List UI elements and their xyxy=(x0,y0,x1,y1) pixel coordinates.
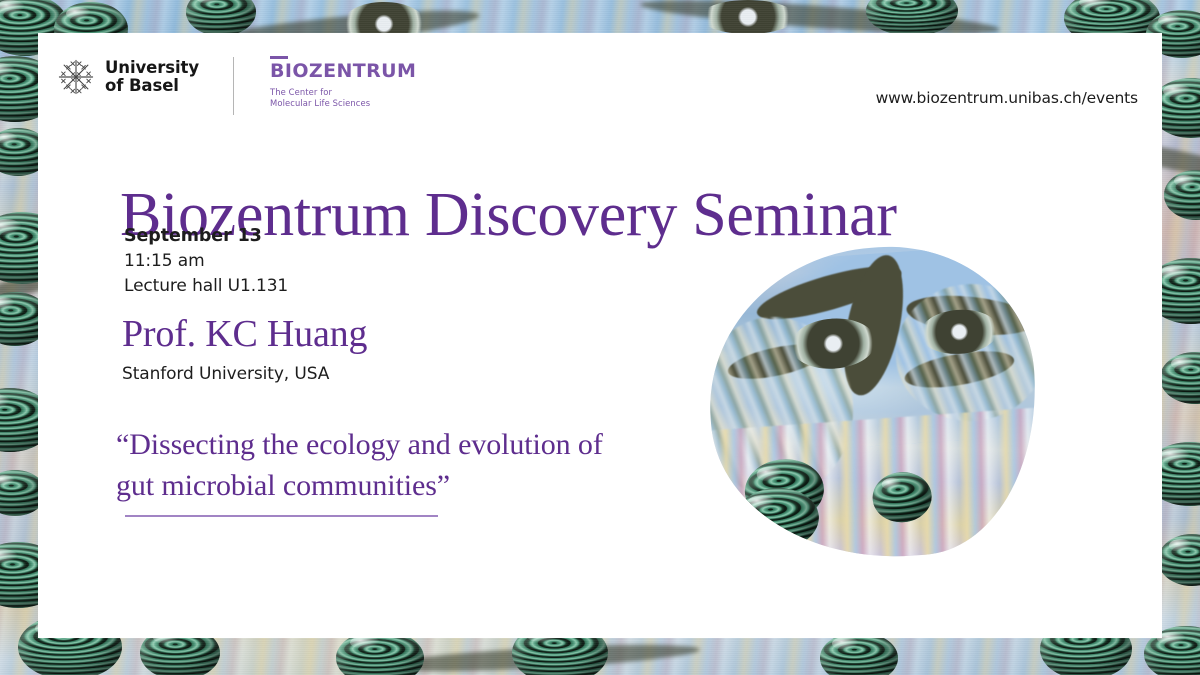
speaker-affiliation: Stanford University, USA xyxy=(122,364,367,384)
university-of-basel-wordmark: University of Basel xyxy=(105,59,199,96)
background-orb xyxy=(820,632,898,675)
decorative-rule xyxy=(125,515,438,517)
biozentrum-accent-bar xyxy=(270,56,288,59)
biozentrum-logo: BIOZENTRUM The Center for Molecular Life… xyxy=(270,55,416,110)
talk-title: “Dissecting the ecology and evolution of… xyxy=(116,425,636,506)
seminar-poster: University of Basel BIOZENTRUM The Cente… xyxy=(0,0,1200,675)
abstract-blob-image xyxy=(700,237,1047,569)
logo-divider xyxy=(233,57,234,115)
content-card: University of Basel BIOZENTRUM The Cente… xyxy=(38,33,1162,638)
basel-snowflake-icon xyxy=(58,59,94,95)
background-eye-swirl xyxy=(700,0,796,34)
poster-header: University of Basel BIOZENTRUM The Cente… xyxy=(58,55,1138,121)
speaker-name: Prof. KC Huang xyxy=(122,315,367,355)
biozentrum-tagline: The Center for Molecular Life Sciences xyxy=(270,87,416,110)
event-location: Lecture hall U1.131 xyxy=(124,274,288,299)
event-details: September 13 11:15 am Lecture hall U1.13… xyxy=(124,223,288,299)
biozentrum-wordmark: BIOZENTRUM xyxy=(270,62,416,81)
university-of-basel-logo: University of Basel xyxy=(58,55,199,96)
event-time: 11:15 am xyxy=(124,249,288,274)
logo-group: University of Basel BIOZENTRUM The Cente… xyxy=(58,55,416,115)
events-url[interactable]: www.biozentrum.unibas.ch/events xyxy=(876,89,1138,107)
speaker-block: Prof. KC Huang Stanford University, USA xyxy=(122,315,367,384)
event-date: September 13 xyxy=(124,223,288,249)
